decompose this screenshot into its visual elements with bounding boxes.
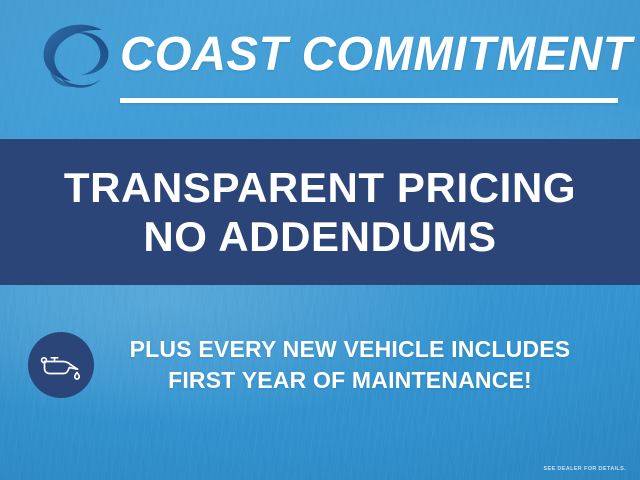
bonus-offer-row: PLUS EVERY NEW VEHICLE INCLUDES FIRST YE…	[0, 318, 640, 412]
coast-commitment-banner: COAST COMMITMENT TRANSPARENT PRICING NO …	[0, 0, 640, 480]
message-line-primary: TRANSPARENT PRICING	[64, 166, 576, 209]
coast-wave-logo-icon	[30, 17, 124, 101]
disclaimer-text: SEE DEALER FOR DETAILS.	[543, 466, 626, 472]
header-divider	[120, 98, 618, 103]
bonus-text-block: PLUS EVERY NEW VEHICLE INCLUDES FIRST YE…	[94, 334, 640, 395]
oil-can-icon	[28, 332, 94, 398]
banner-header: COAST COMMITMENT	[0, 0, 640, 139]
message-band: TRANSPARENT PRICING NO ADDENDUMS	[0, 139, 640, 285]
bonus-line-primary: PLUS EVERY NEW VEHICLE INCLUDES	[94, 334, 606, 365]
bonus-line-secondary: FIRST YEAR OF MAINTENANCE!	[94, 365, 606, 396]
brand-title: COAST COMMITMENT	[120, 26, 613, 84]
message-line-secondary: NO ADDENDUMS	[143, 215, 496, 258]
